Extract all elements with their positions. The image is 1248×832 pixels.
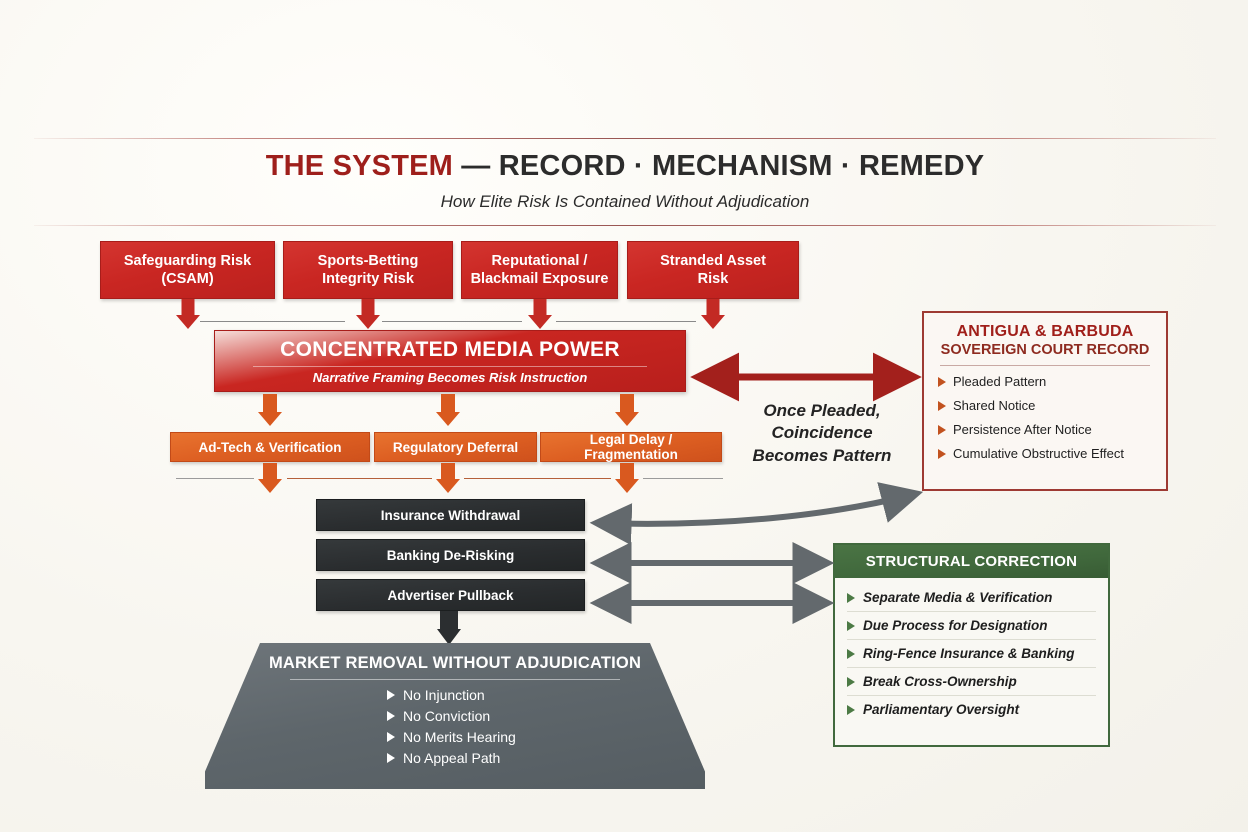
page-title-primary: THE SYSTEM (266, 150, 453, 182)
arrow-risk-to-banner-1 (175, 299, 201, 329)
record-panel-item-label: Pleaded Pattern (953, 374, 1046, 389)
effect-bar-label: Advertiser Pullback (387, 588, 513, 603)
correction-panel-body: Separate Media & Verification Due Proces… (835, 578, 1108, 727)
risk-box-stranded-asset[interactable]: Stranded Asset Risk (627, 241, 799, 299)
banner-subtitle: Narrative Framing Becomes Risk Instructi… (313, 370, 588, 385)
correction-panel-item: Break Cross-Ownership (847, 668, 1096, 696)
mechanism-box-regulatory-deferral[interactable]: Regulatory Deferral (374, 432, 537, 462)
risk-box-sports-betting[interactable]: Sports-Betting Integrity Risk (283, 241, 453, 299)
record-panel-item-label: Shared Notice (953, 398, 1035, 413)
connector-rule-mech-2 (464, 478, 611, 479)
arrow-banner-to-mechanism-2 (435, 394, 461, 426)
mechanism-box-ad-tech[interactable]: Ad-Tech & Verification (170, 432, 370, 462)
triangle-bullet-icon (938, 425, 946, 435)
correction-panel-item-label: Parliamentary Oversight (863, 702, 1019, 717)
triangle-bullet-icon (387, 732, 395, 742)
market-removal-list: No Injunction No Conviction No Merits He… (205, 687, 705, 766)
correction-panel-item: Due Process for Designation (847, 612, 1096, 640)
sovereign-court-record-panel[interactable]: ANTIGUA & BARBUDA SOVEREIGN COURT RECORD… (922, 311, 1168, 491)
record-panel-divider (940, 365, 1150, 366)
record-panel-item-label: Cumulative Obstructive Effect (953, 446, 1124, 461)
connector-rule-top-3 (556, 321, 696, 322)
risk-box-label: Sports-Betting Integrity Risk (318, 252, 419, 288)
market-removal-title: MARKET REMOVAL WITHOUT ADJUDICATION (205, 654, 705, 673)
market-removal-item: No Injunction (387, 687, 705, 703)
risk-box-safeguarding[interactable]: Safeguarding Risk (CSAM) (100, 241, 275, 299)
market-removal-divider (290, 679, 620, 680)
triangle-bullet-icon (387, 753, 395, 763)
correction-panel-item-label: Separate Media & Verification (863, 590, 1052, 605)
risk-box-reputational[interactable]: Reputational / Blackmail Exposure (461, 241, 618, 299)
page-subtitle: How Elite Risk Is Contained Without Adju… (34, 192, 1216, 212)
annotation-line-3: Becomes Pattern (726, 445, 918, 467)
arrow-risk-to-banner-4 (700, 299, 726, 329)
risk-box-label: Reputational / Blackmail Exposure (471, 252, 609, 288)
triangle-bullet-icon (847, 593, 855, 603)
market-removal-item: No Appeal Path (387, 750, 705, 766)
arrow-mechanism-to-effect-1 (257, 463, 283, 493)
connector-rule-mech-3 (643, 478, 723, 479)
correction-panel-title: STRUCTURAL CORRECTION (866, 553, 1077, 570)
mechanism-box-label: Legal Delay / Fragmentation (541, 432, 721, 462)
effect-bar-label: Banking De-Risking (387, 548, 515, 563)
correction-panel-item: Ring-Fence Insurance & Banking (847, 640, 1096, 668)
mechanism-box-label: Ad-Tech & Verification (198, 440, 341, 455)
annotation-line-1: Once Pleaded, (726, 400, 918, 422)
arrow-banner-to-mechanism-3 (614, 394, 640, 426)
banner-title: CONCENTRATED MEDIA POWER (280, 338, 620, 362)
structural-correction-panel[interactable]: STRUCTURAL CORRECTION Separate Media & V… (833, 543, 1110, 747)
effect-bar-label: Insurance Withdrawal (381, 508, 520, 523)
record-panel-item-label: Persistence After Notice (953, 422, 1092, 437)
triangle-bullet-icon (847, 705, 855, 715)
triangle-bullet-icon (938, 377, 946, 387)
correction-panel-item: Separate Media & Verification (847, 584, 1096, 612)
header-rule-bottom (34, 225, 1216, 226)
diagram-header: THE SYSTEM — RECORD · MECHANISM · REMEDY… (34, 138, 1216, 226)
connector-rule-mech-0 (176, 478, 254, 479)
market-removal-item-label: No Appeal Path (403, 750, 500, 766)
arrow-effects-to-removal (432, 611, 466, 645)
record-panel-title-secondary: SOVEREIGN COURT RECORD (938, 342, 1152, 358)
connector-rule-top-2 (382, 321, 522, 322)
effect-bar-banking-de-risking[interactable]: Banking De-Risking (316, 539, 585, 571)
market-removal-content: MARKET REMOVAL WITHOUT ADJUDICATION No I… (205, 643, 705, 771)
triangle-bullet-icon (847, 677, 855, 687)
market-removal-item: No Conviction (387, 708, 705, 724)
diagram-canvas: THE SYSTEM — RECORD · MECHANISM · REMEDY… (0, 0, 1248, 832)
arrow-mechanism-to-effect-2 (435, 463, 461, 493)
arrow-insurance-to-record (598, 494, 915, 524)
effect-bar-advertiser-pullback[interactable]: Advertiser Pullback (316, 579, 585, 611)
mechanism-box-legal-delay[interactable]: Legal Delay / Fragmentation (540, 432, 722, 462)
risk-box-label: Stranded Asset Risk (660, 252, 766, 288)
arrow-risk-to-banner-3 (527, 299, 553, 329)
triangle-bullet-icon (938, 449, 946, 459)
concentrated-media-power-banner[interactable]: CONCENTRATED MEDIA POWER Narrative Frami… (214, 330, 686, 392)
arrow-banner-to-mechanism-1 (257, 394, 283, 426)
record-panel-item: Shared Notice (938, 398, 1152, 413)
correction-panel-item: Parliamentary Oversight (847, 696, 1096, 723)
arrow-risk-to-banner-2 (355, 299, 381, 329)
triangle-bullet-icon (387, 711, 395, 721)
market-removal-item-label: No Conviction (403, 708, 490, 724)
arrow-mechanism-to-effect-3 (614, 463, 640, 493)
header-rule-top (34, 138, 1216, 139)
record-panel-item: Persistence After Notice (938, 422, 1152, 437)
record-panel-item: Cumulative Obstructive Effect (938, 446, 1152, 461)
page-title-secondary: — RECORD · MECHANISM · REMEDY (453, 150, 984, 182)
correction-panel-header: STRUCTURAL CORRECTION (835, 545, 1108, 578)
triangle-bullet-icon (938, 401, 946, 411)
market-removal-item-label: No Merits Hearing (403, 729, 516, 745)
risk-box-label: Safeguarding Risk (CSAM) (124, 252, 251, 288)
record-panel-title-primary: ANTIGUA & BARBUDA (938, 323, 1152, 341)
record-panel-item: Pleaded Pattern (938, 374, 1152, 389)
triangle-bullet-icon (847, 621, 855, 631)
annotation-once-pleaded: Once Pleaded, Coincidence Becomes Patter… (726, 400, 918, 467)
annotation-line-2: Coincidence (726, 422, 918, 444)
market-removal-item-label: No Injunction (403, 687, 485, 703)
connector-rule-mech-1 (287, 478, 432, 479)
page-title: THE SYSTEM — RECORD · MECHANISM · REMEDY (34, 150, 1216, 183)
banner-divider (253, 366, 648, 367)
correction-panel-item-label: Ring-Fence Insurance & Banking (863, 646, 1075, 661)
effect-bar-insurance-withdrawal[interactable]: Insurance Withdrawal (316, 499, 585, 531)
market-removal-item: No Merits Hearing (387, 729, 705, 745)
mechanism-box-label: Regulatory Deferral (393, 440, 518, 455)
correction-panel-item-label: Due Process for Designation (863, 618, 1048, 633)
correction-panel-item-label: Break Cross-Ownership (863, 674, 1017, 689)
triangle-bullet-icon (847, 649, 855, 659)
market-removal-panel[interactable]: MARKET REMOVAL WITHOUT ADJUDICATION No I… (205, 643, 705, 789)
triangle-bullet-icon (387, 690, 395, 700)
connector-rule-top-1 (200, 321, 345, 322)
